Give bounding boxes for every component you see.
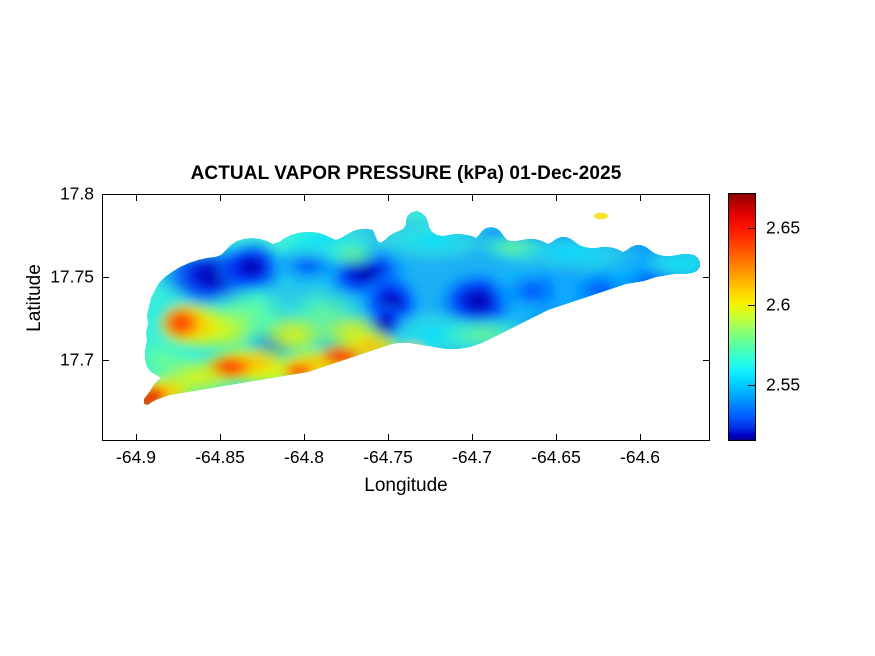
xtick-mark: [556, 194, 557, 201]
xtick-label: -64.65: [531, 447, 581, 468]
colorbar-tick-label: 2.55: [766, 375, 800, 396]
xtick-label: -64.7: [452, 447, 492, 468]
buck-island-marker: [594, 213, 608, 220]
ytick-label: 17.75: [50, 267, 94, 288]
xtick-mark: [556, 434, 557, 441]
interpolated-field: [103, 195, 711, 442]
colorbar-tick-mark: [748, 385, 755, 386]
matlab-figure-window: ACTUAL VAPOR PRESSURE (kPa) 01-Dec-2025: [0, 0, 875, 656]
xtick-mark: [136, 434, 137, 441]
colorbar: [728, 193, 756, 441]
colorbar-tick-label: 2.65: [766, 218, 800, 239]
x-axis-label: Longitude: [102, 475, 710, 497]
vapor-pressure-heatmap: [103, 195, 711, 442]
ytick-mark: [102, 277, 109, 278]
ytick-mark: [703, 360, 710, 361]
xtick-label: -64.75: [363, 447, 413, 468]
xtick-label: -64.6: [620, 447, 660, 468]
xtick-label: -64.9: [116, 447, 156, 468]
xtick-mark: [640, 434, 641, 441]
xtick-mark: [136, 194, 137, 201]
colorbar-tick-label: 2.6: [766, 295, 790, 316]
xtick-label: -64.85: [195, 447, 245, 468]
xtick-mark: [304, 194, 305, 201]
xtick-mark: [472, 194, 473, 201]
xtick-mark: [388, 194, 389, 201]
ytick-mark: [703, 277, 710, 278]
colorbar-tick-mark: [748, 228, 755, 229]
xtick-mark: [220, 194, 221, 201]
colorbar-tick-mark: [748, 305, 755, 306]
map-axes: [102, 194, 710, 441]
xtick-mark: [388, 434, 389, 441]
xtick-mark: [220, 434, 221, 441]
xtick-mark: [472, 434, 473, 441]
y-axis-label: Latitude: [24, 218, 46, 378]
page-title: ACTUAL VAPOR PRESSURE (kPa) 01-Dec-2025: [102, 163, 710, 185]
xtick-label: -64.8: [284, 447, 324, 468]
ytick-label: 17.8: [60, 184, 94, 205]
ytick-mark: [102, 360, 109, 361]
xtick-mark: [304, 434, 305, 441]
xtick-mark: [640, 194, 641, 201]
ytick-label: 17.7: [60, 350, 94, 371]
